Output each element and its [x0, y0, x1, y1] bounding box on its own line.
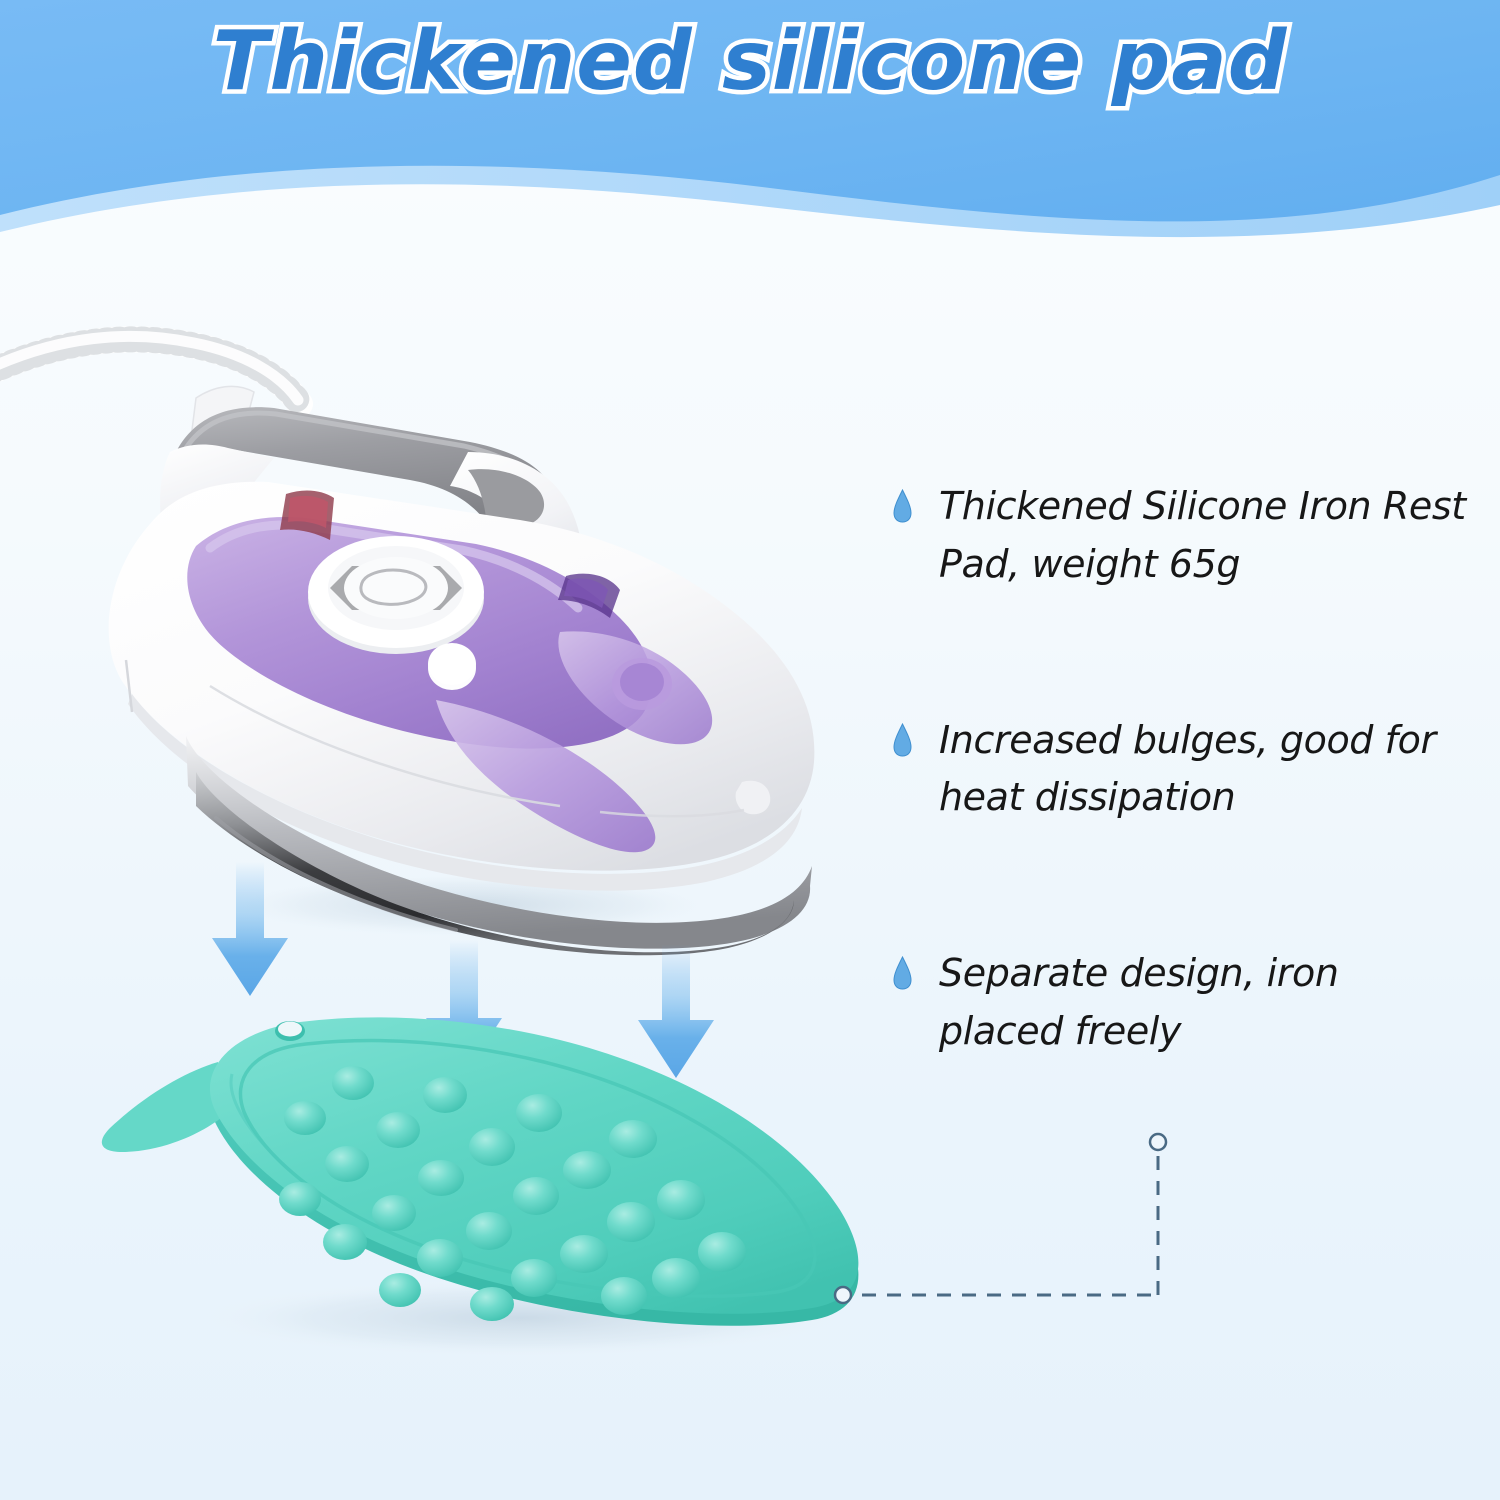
temperature-dial[interactable]: [308, 536, 484, 654]
steam-iron: [0, 336, 814, 955]
down-arrow-1: [212, 862, 288, 996]
feature-text-1: Thickened Silicone Iron Rest Pad, weight…: [939, 478, 1466, 594]
feature-item-3: Separate design, iron placed freely: [893, 945, 1483, 1061]
down-arrow-3: [638, 944, 714, 1078]
water-drop-bullet-icon: [893, 956, 912, 990]
water-drop-bullet-icon: [893, 489, 912, 523]
feature-text-2: Increased bulges, good for heat dissipat…: [939, 712, 1436, 828]
feature-text-3: Separate design, iron placed freely: [939, 945, 1339, 1061]
power-cord: [0, 336, 300, 404]
callout-endpoint-top: [1150, 1134, 1166, 1150]
hanging-hole: [275, 1021, 305, 1041]
water-drop-bullet-icon: [893, 723, 912, 757]
spray-button-top: [428, 643, 476, 685]
pad-side-tab: [102, 1062, 226, 1152]
dimension-callout: [835, 1134, 1166, 1303]
feature-item-1: Thickened Silicone Iron Rest Pad, weight…: [893, 478, 1483, 594]
water-fill-cap-inner: [620, 663, 664, 701]
silicone-iron-rest-pad: [102, 1017, 859, 1325]
feature-item-2: Increased bulges, good for heat dissipat…: [893, 712, 1483, 828]
callout-endpoint-left: [835, 1287, 851, 1303]
feature-list: Thickened Silicone Iron Rest Pad, weight…: [893, 478, 1483, 1061]
product-infographic: Thickened silicone pad: [0, 0, 1500, 1500]
